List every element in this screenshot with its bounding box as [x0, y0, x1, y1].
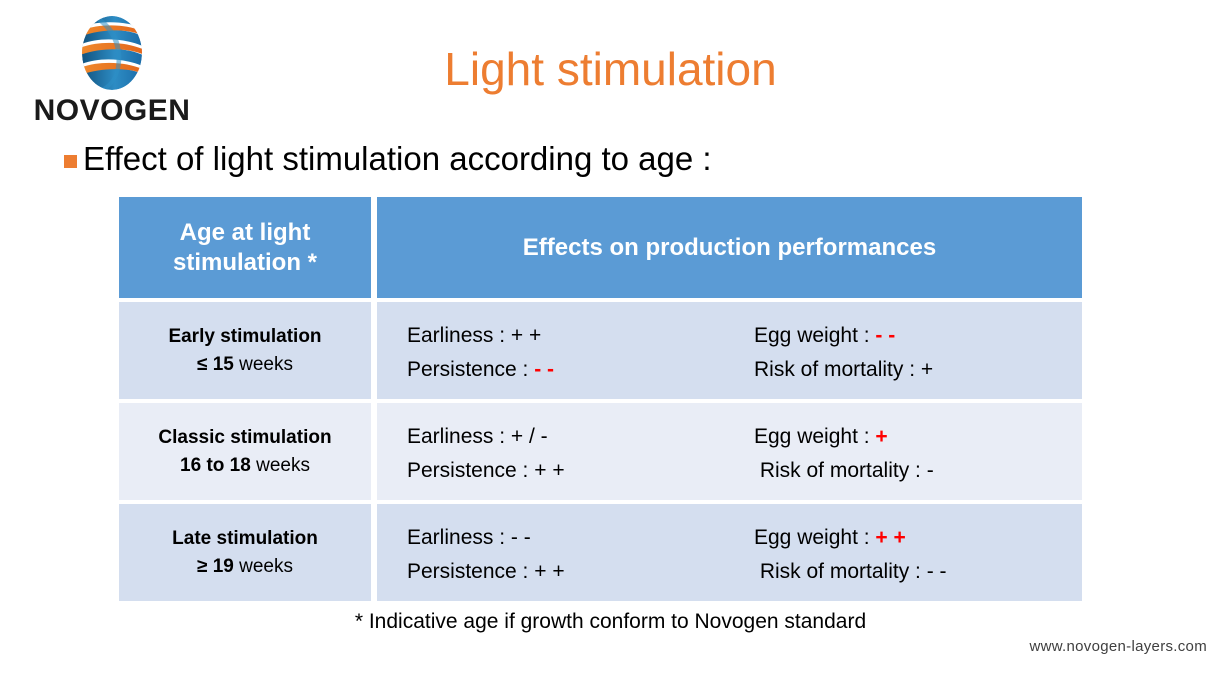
cell-age: Late stimulation ≥ 19 weeks	[119, 504, 371, 601]
age-range: 16 to 18 weeks	[119, 452, 371, 480]
egg-weight-value: - -	[875, 324, 895, 347]
age-name: Late stimulation	[119, 525, 371, 553]
mortality-line: Risk of mortality : -	[754, 454, 1074, 487]
persistence-label: Persistence :	[407, 358, 534, 381]
age-range-value: ≤ 15	[197, 354, 234, 375]
age-range-unit: weeks	[234, 354, 293, 375]
header-cell-effects: Effects on production performances	[377, 197, 1082, 298]
bullet-text: Effect of light stimulation according to…	[83, 140, 712, 178]
persistence-value: - -	[534, 358, 554, 381]
age-range: ≥ 19 weeks	[119, 553, 371, 581]
persistence-line: Persistence : - -	[407, 353, 754, 386]
earliness-label: Earliness :	[407, 425, 511, 448]
mortality-label: Risk of mortality :	[754, 560, 927, 583]
earliness-label: Earliness :	[407, 324, 511, 347]
egg-weight-line: Egg weight : +	[754, 420, 1074, 453]
age-name: Early stimulation	[119, 323, 371, 351]
mortality-line: Risk of mortality : - -	[754, 555, 1074, 588]
table-footnote: * Indicative age if growth conform to No…	[0, 610, 1221, 634]
egg-weight-label: Egg weight :	[754, 324, 875, 347]
persistence-line: Persistence : + +	[407, 454, 754, 487]
earliness-value: - -	[511, 526, 531, 549]
light-stimulation-table: Age at light stimulation * Effects on pr…	[119, 197, 1082, 601]
mortality-label: Risk of mortality :	[754, 358, 921, 381]
persistence-label: Persistence :	[407, 560, 534, 583]
brand-wordmark: NOVOGEN	[22, 94, 202, 128]
mortality-line: Risk of mortality : +	[754, 353, 1074, 386]
cell-effects: Earliness : + + Persistence : - - Egg we…	[377, 302, 1082, 399]
persistence-line: Persistence : + +	[407, 555, 754, 588]
persistence-value: + +	[534, 560, 564, 583]
egg-weight-value: +	[875, 425, 887, 448]
header-age-line2: stimulation *	[119, 248, 371, 278]
age-range-unit: weeks	[234, 556, 293, 577]
age-range-value: 16 to 18	[180, 455, 251, 476]
age-range-value: ≥ 19	[197, 556, 234, 577]
earliness-value: + / -	[511, 425, 548, 448]
earliness-line: Earliness : + / -	[407, 420, 754, 453]
mortality-value: - -	[927, 560, 947, 583]
mortality-label: Risk of mortality :	[754, 459, 927, 482]
earliness-line: Earliness : - -	[407, 521, 754, 554]
mortality-value: -	[927, 459, 934, 482]
table-row: Late stimulation ≥ 19 weeks Earliness : …	[119, 504, 1082, 601]
persistence-value: + +	[534, 459, 564, 482]
earliness-value: + +	[511, 324, 541, 347]
age-range-unit: weeks	[251, 455, 310, 476]
persistence-label: Persistence :	[407, 459, 534, 482]
page-title: Light stimulation	[0, 42, 1221, 96]
website-url: www.novogen-layers.com	[1029, 638, 1207, 655]
square-bullet-icon	[64, 155, 77, 168]
table-row: Classic stimulation 16 to 18 weeks Earli…	[119, 403, 1082, 500]
cell-age: Early stimulation ≤ 15 weeks	[119, 302, 371, 399]
age-range: ≤ 15 weeks	[119, 351, 371, 379]
egg-weight-line: Egg weight : - -	[754, 319, 1074, 352]
egg-weight-value: + +	[875, 526, 905, 549]
cell-effects: Earliness : - - Persistence : + + Egg we…	[377, 504, 1082, 601]
earliness-line: Earliness : + +	[407, 319, 754, 352]
age-name: Classic stimulation	[119, 424, 371, 452]
cell-age: Classic stimulation 16 to 18 weeks	[119, 403, 371, 500]
mortality-value: +	[921, 358, 933, 381]
egg-weight-label: Egg weight :	[754, 526, 875, 549]
table-header-row: Age at light stimulation * Effects on pr…	[119, 197, 1082, 298]
header-age-line1: Age at light	[119, 218, 371, 248]
header-effects-label: Effects on production performances	[377, 234, 1082, 262]
bullet-line: Effect of light stimulation according to…	[64, 140, 712, 178]
cell-effects: Earliness : + / - Persistence : + + Egg …	[377, 403, 1082, 500]
table-row: Early stimulation ≤ 15 weeks Earliness :…	[119, 302, 1082, 399]
egg-weight-line: Egg weight : + +	[754, 521, 1074, 554]
egg-weight-label: Egg weight :	[754, 425, 875, 448]
header-cell-age: Age at light stimulation *	[119, 197, 371, 298]
earliness-label: Earliness :	[407, 526, 511, 549]
